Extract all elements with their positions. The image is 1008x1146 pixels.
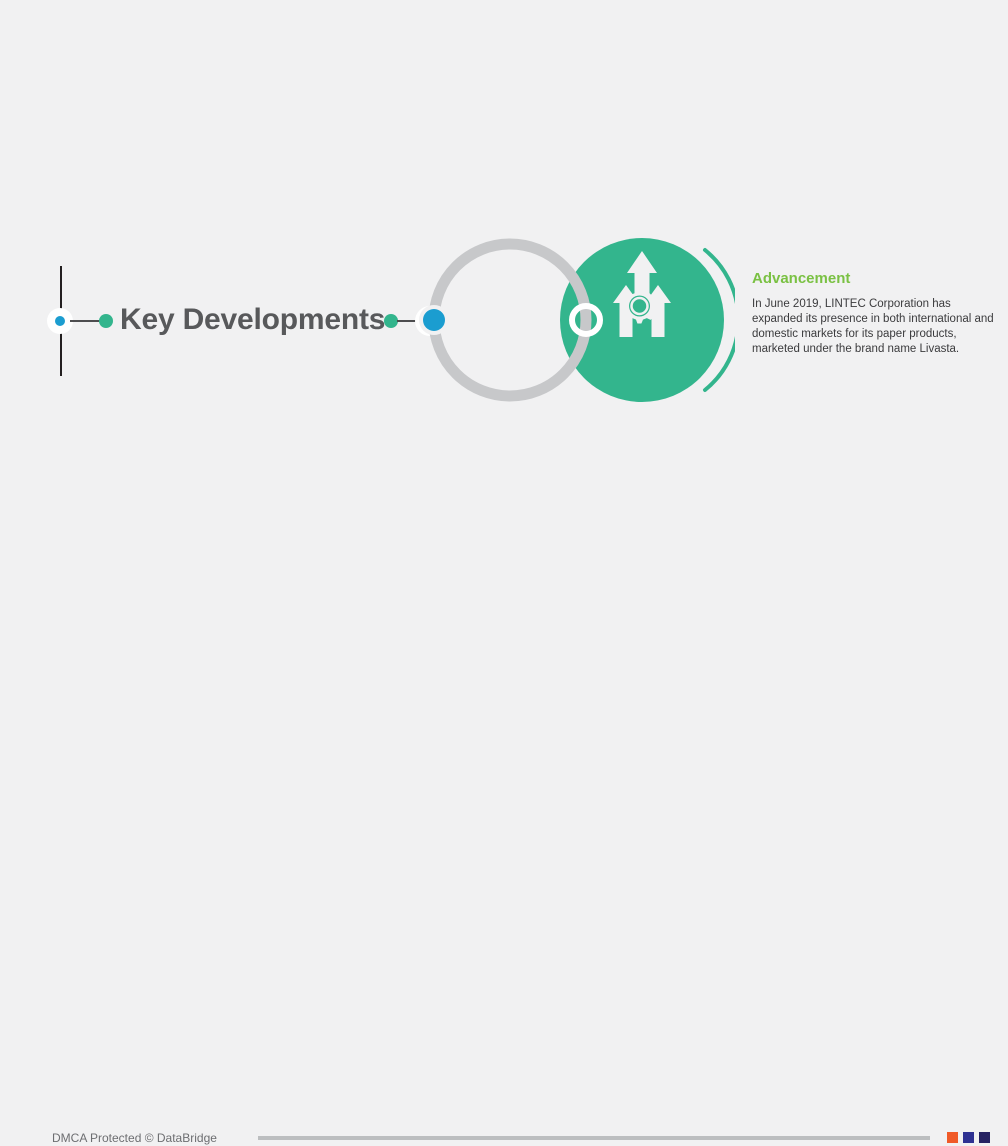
circle-graphic xyxy=(415,225,735,420)
panel-heading: Advancement xyxy=(752,270,1002,288)
footer-divider-rule xyxy=(258,1136,930,1140)
slide-canvas: Key Developments xyxy=(0,0,1008,600)
footer-copyright: DMCA Protected © DataBridge xyxy=(52,1130,217,1146)
info-panel: Advancement In June 2019, LINTEC Corpora… xyxy=(752,270,1002,357)
timeline-dot-left xyxy=(99,314,113,328)
timeline-connector-left xyxy=(70,320,102,322)
footer-swatch-blue xyxy=(963,1132,974,1143)
timeline-dot-right xyxy=(384,314,398,328)
panel-body-text: In June 2019, LINTEC Corporation has exp… xyxy=(752,297,1002,357)
page-title: Key Developments xyxy=(120,300,385,340)
footer-swatch-navy xyxy=(979,1132,990,1143)
footer-swatch-orange xyxy=(947,1132,958,1143)
timeline-title-group: Key Developments xyxy=(0,0,460,600)
ring-node-left xyxy=(423,309,445,331)
timeline-start-node-dot xyxy=(55,316,65,326)
footer: DMCA Protected © DataBridge xyxy=(0,560,1008,600)
